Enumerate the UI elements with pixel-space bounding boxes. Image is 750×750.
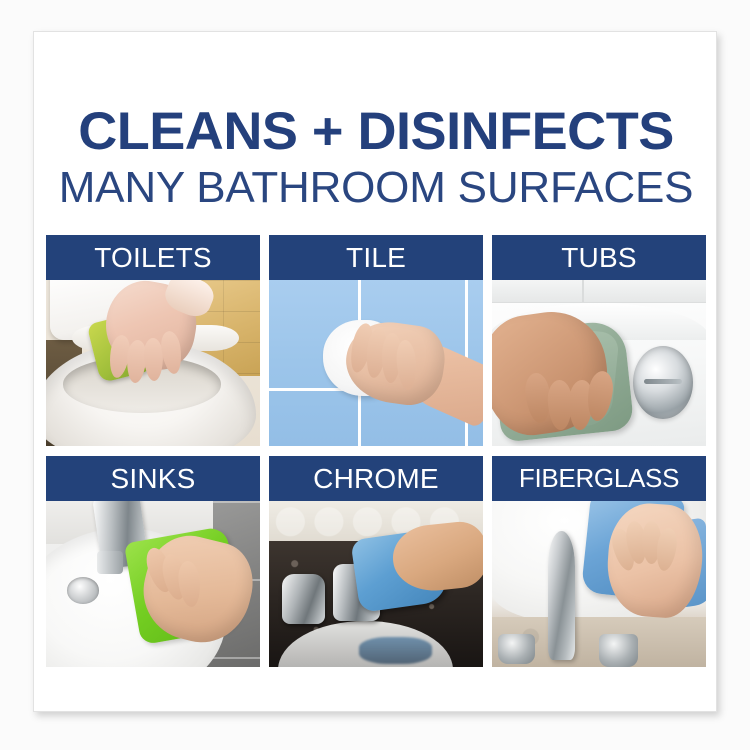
photo-sinks [46, 501, 260, 667]
surface-label-sinks: SINKS [46, 456, 260, 501]
chrome-drain [633, 346, 693, 419]
faucet-knob-left [498, 634, 534, 664]
surface-tile-toilets: TOILETS [46, 235, 260, 446]
surface-tile-fiberglass: FIBERGLASS [492, 456, 706, 667]
headline-primary: CLEANS + DISINFECTS [33, 104, 717, 160]
faucet-handle [282, 574, 325, 624]
surface-tile-chrome: CHROME [269, 456, 483, 667]
tub-wall [492, 280, 706, 303]
faucet-knob-right [599, 634, 638, 667]
surface-label-tubs: TUBS [492, 235, 706, 280]
countertop-reflection [359, 637, 432, 664]
surface-label-toilets: TOILETS [46, 235, 260, 280]
surface-label-chrome: CHROME [269, 456, 483, 501]
page-background: CLEANS + DISINFECTS MANY BATHROOM SURFAC… [0, 0, 750, 750]
faucet-base [97, 551, 123, 574]
nickel-faucet-spout [548, 531, 576, 660]
photo-chrome [269, 501, 483, 667]
photo-fiberglass [492, 501, 706, 667]
photo-tubs [492, 280, 706, 446]
surface-label-tile: TILE [269, 235, 483, 280]
surface-grid: TOILETS T [46, 235, 706, 667]
headline-block: CLEANS + DISINFECTS MANY BATHROOM SURFAC… [34, 104, 717, 213]
surface-label-fiberglass: FIBERGLASS [492, 456, 706, 501]
photo-tile [269, 280, 483, 446]
photo-toilets [46, 280, 260, 446]
surface-tile-tile: TILE [269, 235, 483, 446]
product-feature-card: CLEANS + DISINFECTS MANY BATHROOM SURFAC… [33, 31, 717, 712]
headline-secondary: MANY BATHROOM SURFACES [34, 163, 717, 213]
surface-tile-tubs: TUBS [492, 235, 706, 446]
surface-tile-sinks: SINKS [46, 456, 260, 667]
